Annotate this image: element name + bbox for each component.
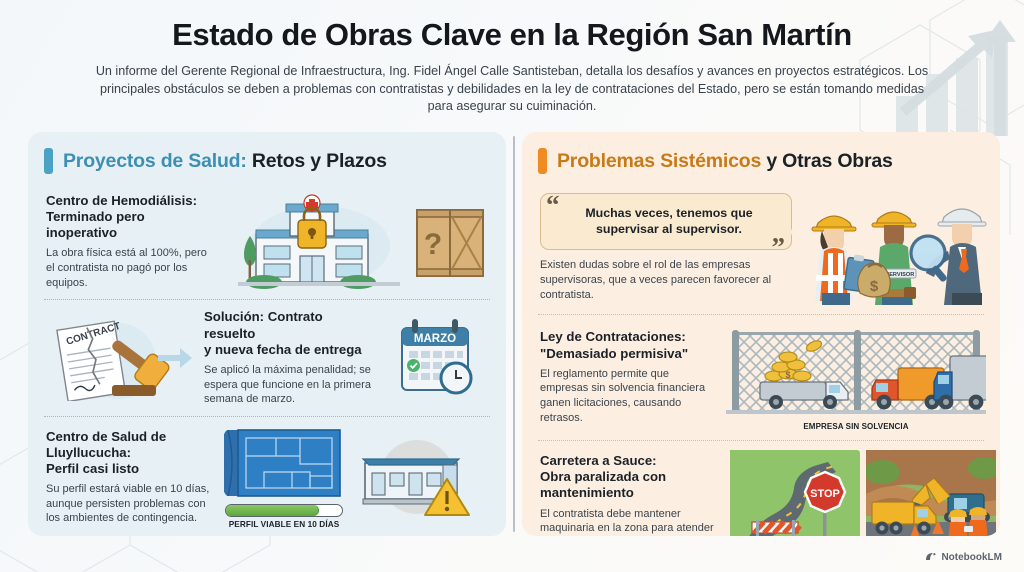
wooden-crate-question-icon: ? (414, 202, 486, 282)
notebooklm-logo-icon (925, 551, 937, 563)
card-solucion-contrato: MARZO (44, 299, 490, 415)
card-solucion-body: Se aplicó la máxima penalidad; se espera… (204, 363, 376, 407)
fence-trucks-icon: $ (726, 324, 986, 420)
card-hemodialisis-title: Centro de Hemodiálisis: Terminado pero i… (46, 193, 218, 241)
progress-fill (226, 505, 319, 516)
card-supervisores-art: SUPERVISOR $ (800, 193, 996, 305)
card-carretera-body: El contratista debe mantener maquinaria … (540, 507, 722, 536)
right-cards-list: “ Muchas veces, tenemos que supervisar a… (538, 184, 984, 536)
hospital-building-locked-icon (228, 194, 408, 290)
svg-text:$: $ (870, 278, 879, 295)
landslide-excavator-icon (866, 450, 996, 536)
watermark: NotebookLM (925, 551, 1002, 563)
quote-text: Muchas veces, tenemos que supervisar al … (561, 205, 777, 237)
blueprint-roll-icon (224, 426, 344, 500)
card-supervisores-body: Existen dudas sobre el rol de las empres… (540, 258, 792, 303)
card-title-line1: Ley de Contrataciones: (540, 329, 686, 344)
quote-close-icon: ” (772, 234, 786, 261)
card-title-line2: Terminado pero inoperativo (46, 209, 145, 240)
card-title-line2: Lluyllucucha: (46, 445, 131, 460)
supervisor-money-bag-icon: SUPERVISOR $ (858, 212, 916, 305)
progress-indicator: PERFIL VIABLE EN 10 DÍAS (225, 504, 343, 529)
progress-track (225, 504, 343, 517)
left-panel-title-accent: Proyectos de Salud: (63, 150, 247, 172)
card-supervisores: “ Muchas veces, tenemos que supervisar a… (538, 184, 984, 314)
right-panel-title: Problemas Sistémicos y Otras Obras (557, 150, 893, 173)
card-ley-contrataciones: Ley de Contrataciones: "Demasiado permis… (538, 314, 984, 440)
card-lluyllucucha-title: Centro de Salud de Lluyllucucha: Perfil … (46, 429, 214, 477)
card-hemodialisis-body: La obra física está al 100%, pero el con… (46, 246, 218, 290)
card-title-line2: y nueva fecha de entrega (204, 342, 362, 357)
svg-text:?: ? (424, 228, 442, 261)
torn-contract-gavel-icon: CONTRACT (46, 315, 196, 401)
card-lluyllucucha: Centro de Salud de Lluyllucucha: Perfil … (44, 416, 490, 536)
modular-building-warning-icon (355, 435, 473, 519)
accent-bar-icon (44, 148, 53, 174)
page-title: Estado de Obras Clave en la Región San M… (90, 18, 934, 53)
infographic-root: Estado de Obras Clave en la Región San M… (0, 0, 1024, 572)
card-hemodialisis-text: Centro de Hemodiálisis: Terminado pero i… (46, 193, 218, 290)
supervisors-group-illustration: SUPERVISOR $ (800, 193, 996, 305)
card-solucion-text: Solución: Contrato resuelto y nueva fech… (204, 309, 376, 406)
card-title-line3: mantenimiento (540, 485, 634, 500)
calendar-month-label: MARZO (414, 333, 456, 345)
card-ley-text: Ley de Contrataciones: "Demasiado permis… (540, 329, 718, 425)
road-barrier-icon (752, 520, 800, 536)
card-ley-art-caption: EMPRESA SIN SOLVENCIA (803, 422, 908, 431)
card-title-line3: Perfil casi listo (46, 461, 139, 476)
card-solucion-art-contract: CONTRACT (46, 315, 196, 401)
card-title-line2: "Demasiado permisiva" (540, 346, 688, 361)
card-ley-art: $ (726, 324, 986, 431)
card-ley-body: El reglamento permite que empresas sin s… (540, 367, 718, 426)
accent-bar-icon (538, 148, 547, 174)
card-hemodialisis: Centro de Hemodiálisis: Terminado pero i… (44, 184, 490, 299)
card-lluyllucucha-art-blueprint: PERFIL VIABLE EN 10 DÍAS (222, 426, 346, 529)
left-panel-title: Proyectos de Salud: Retos y Plazos (63, 150, 387, 173)
right-panel-header: Problemas Sistémicos y Otras Obras (538, 148, 984, 174)
card-lluyllucucha-art-building (354, 435, 474, 519)
inspector-magnifier-icon (911, 209, 986, 305)
left-panel: Proyectos de Salud: Retos y Plazos Centr… (28, 132, 506, 536)
column-divider (513, 136, 515, 532)
card-lluyllucucha-text: Centro de Salud de Lluyllucucha: Perfil … (46, 429, 214, 526)
card-carretera-art: STOP (730, 450, 996, 536)
card-carretera-text: Carretera a Sauce: Obra paralizada con m… (540, 453, 722, 536)
calendar-clock-icon: MARZO (396, 316, 476, 400)
right-panel-title-rest: y Otras Obras (766, 150, 892, 172)
card-lluyllucucha-body: Su perfil estará viable en 10 días, aunq… (46, 482, 214, 526)
right-panel: Problemas Sistémicos y Otras Obras “ Muc… (522, 132, 1000, 536)
card-title-line1: Centro de Hemodiálisis: (46, 193, 197, 208)
left-panel-header: Proyectos de Salud: Retos y Plazos (44, 148, 490, 174)
card-title-line1: Carretera a Sauce: (540, 453, 657, 468)
card-solucion-title: Solución: Contrato resuelto y nueva fech… (204, 309, 376, 357)
columns-container: Proyectos de Salud: Retos y Plazos Centr… (28, 132, 1000, 536)
card-carretera-sauce: Carretera a Sauce: Obra paralizada con m… (538, 440, 984, 536)
card-hemodialisis-art: ? (226, 194, 488, 290)
stop-sign-label: STOP (810, 488, 840, 500)
quote-open-icon: “ (546, 192, 560, 219)
card-title-line2: Obra paralizada con (540, 469, 666, 484)
winding-road-stop-sign-icon: STOP (730, 450, 860, 536)
card-ley-title: Ley de Contrataciones: "Demasiado permis… (540, 329, 718, 361)
card-solucion-art: MARZO (384, 316, 488, 400)
card-carretera-title: Carretera a Sauce: Obra paralizada con m… (540, 453, 722, 501)
left-cards-list: Centro de Hemodiálisis: Terminado pero i… (44, 184, 490, 536)
card-supervisores-row: “ Muchas veces, tenemos que supervisar a… (540, 193, 982, 305)
card-title-line1: Solución: Contrato resuelto (204, 309, 323, 340)
right-panel-title-accent: Problemas Sistémicos (557, 150, 761, 172)
quote-bubble: “ Muchas veces, tenemos que supervisar a… (540, 193, 792, 250)
card-supervisores-text: “ Muchas veces, tenemos que supervisar a… (540, 193, 792, 303)
svg-text:$: $ (785, 370, 790, 380)
watermark-label: NotebookLM (941, 552, 1002, 563)
header: Estado de Obras Clave en la Región San M… (0, 0, 1024, 116)
progress-caption: PERFIL VIABLE EN 10 DÍAS (229, 520, 340, 529)
left-panel-title-rest: Retos y Plazos (252, 150, 387, 172)
card-title-line1: Centro de Salud de (46, 429, 166, 444)
page-subtitle: Un informe del Gerente Regional de Infra… (90, 63, 934, 117)
